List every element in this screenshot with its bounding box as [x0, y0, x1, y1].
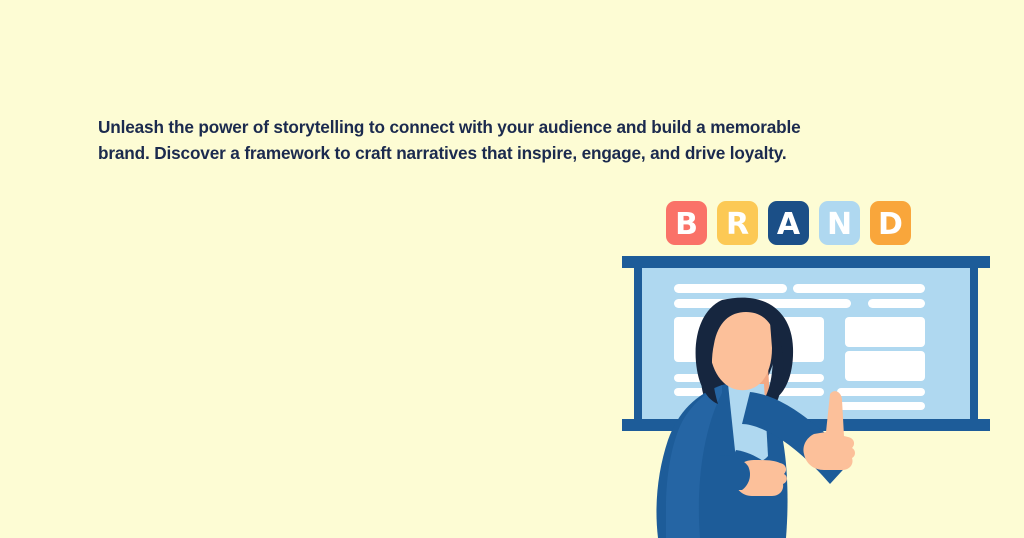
- whiteboard: [622, 256, 990, 431]
- brand-tile-r: R: [717, 201, 758, 245]
- brand-tile-d-letter: D: [878, 207, 903, 242]
- brand-tile-n: N: [819, 201, 860, 245]
- whiteboard-post-left: [634, 267, 642, 422]
- brand-tile-a: A: [768, 201, 809, 245]
- brand-tile-d: D: [870, 201, 911, 245]
- brand-tile-r-letter: R: [726, 207, 749, 242]
- slide-canvas: Unleash the power of storytelling to con…: [0, 0, 1024, 538]
- brand-tile-b: B: [666, 201, 707, 245]
- brand-tile-a-letter: A: [777, 207, 801, 242]
- whiteboard-top-rail: [622, 256, 990, 268]
- brand-tile-b-letter: B: [675, 207, 698, 242]
- brand-storytelling-illustration: B R A N D: [600, 188, 1024, 538]
- whiteboard-post-right: [970, 267, 978, 422]
- brand-tiles-group: B R A N D: [666, 201, 911, 245]
- page-title: Unleash the power of storytelling to con…: [98, 115, 820, 166]
- brand-tile-n-letter: N: [827, 207, 852, 242]
